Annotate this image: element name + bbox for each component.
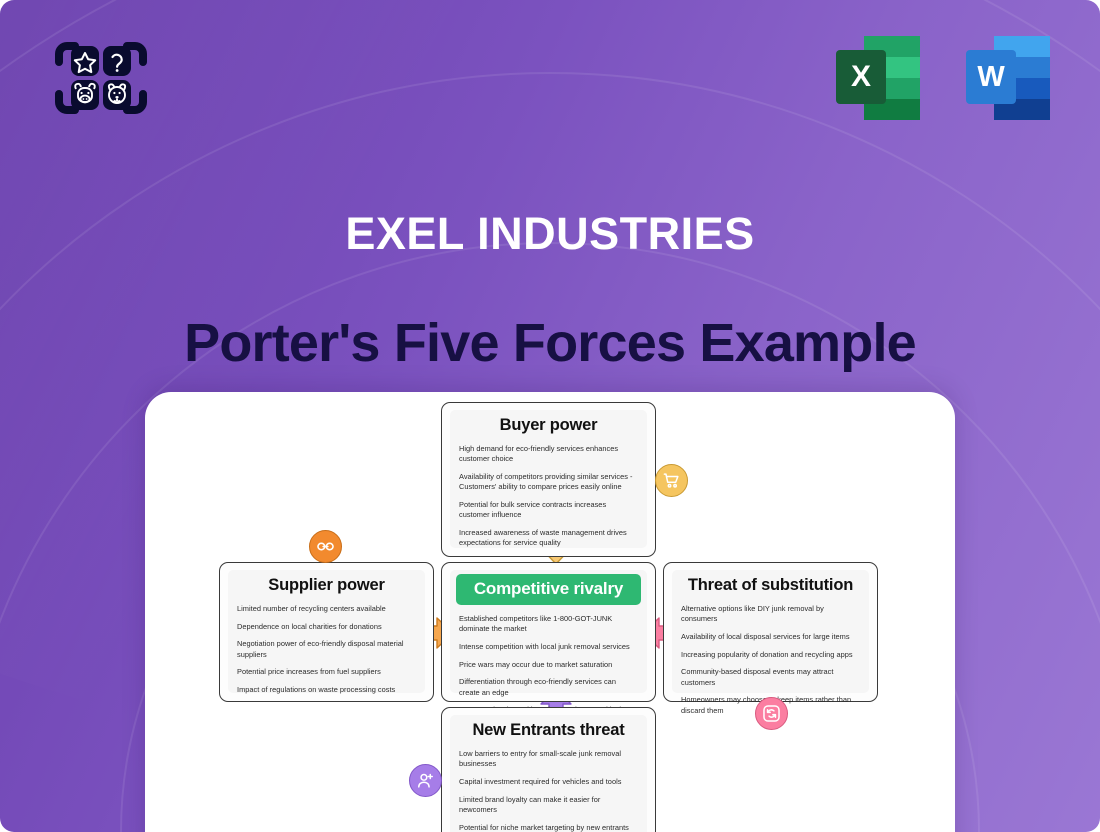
list-item: Intense competition with local junk remo… (459, 642, 638, 652)
list-item: Availability of competitors providing si… (459, 472, 638, 492)
page-subtitle: Porter's Five Forces Example (0, 312, 1100, 374)
list-item: Alternative options like DIY junk remova… (681, 604, 860, 624)
office-app-icons: X W (830, 28, 1058, 126)
force-title-new-entrants-threat: New Entrants threat (459, 721, 638, 740)
force-title-buyer-power: Buyer power (459, 416, 638, 435)
force-bullets-supplier-power: Limited number of recycling centers avai… (237, 604, 416, 695)
poster-canvas: X W EXEL INDUSTRIES Porter's Five Forces… (0, 0, 1100, 832)
svg-text:W: W (977, 61, 1005, 93)
list-item: Potential for bulk service contracts inc… (459, 500, 638, 520)
list-item: Differentiation through eco-friendly ser… (459, 677, 638, 697)
list-item: Price wars may occur due to market satur… (459, 660, 638, 670)
porters-five-forces-diagram: Buyer power High demand for eco-friendly… (145, 392, 955, 832)
add-user-icon[interactable] (409, 764, 442, 797)
brand-qr-animals-logo (45, 32, 157, 124)
list-item: Potential price increases from fuel supp… (237, 667, 416, 677)
word-icon: W (960, 28, 1058, 126)
list-item: Negotiation power of eco-friendly dispos… (237, 639, 416, 659)
list-item: Limited brand loyalty can make it easier… (459, 795, 638, 815)
list-item: Capital investment required for vehicles… (459, 777, 638, 787)
force-box-threat-of-substitution[interactable]: Threat of substitution Alternative optio… (663, 562, 878, 702)
diagram-card: Buyer power High demand for eco-friendly… (145, 392, 955, 832)
force-box-supplier-power[interactable]: Supplier power Limited number of recycli… (219, 562, 434, 702)
list-item: Limited number of recycling centers avai… (237, 604, 416, 614)
force-box-new-entrants-threat[interactable]: New Entrants threat Low barriers to entr… (441, 707, 656, 832)
force-title-supplier-power: Supplier power (237, 576, 416, 595)
list-item: Dependence on local charities for donati… (237, 622, 416, 632)
list-item: Low barriers to entry for small-scale ju… (459, 749, 638, 769)
list-item: Increasing popularity of donation and re… (681, 650, 860, 660)
force-bullets-buyer-power: High demand for eco-friendly services en… (459, 444, 638, 548)
refresh-sync-icon[interactable] (755, 697, 788, 730)
force-box-competitive-rivalry[interactable]: Competitive rivalry Established competit… (441, 562, 656, 702)
list-item: High demand for eco-friendly services en… (459, 444, 638, 464)
page-title: EXEL INDUSTRIES (0, 208, 1100, 260)
list-item: Availability of local disposal services … (681, 632, 860, 642)
list-item: Established competitors like 1-800-GOT-J… (459, 614, 638, 634)
force-bullets-new-entrants-threat: Low barriers to entry for small-scale ju… (459, 749, 638, 832)
force-box-buyer-power[interactable]: Buyer power High demand for eco-friendly… (441, 402, 656, 557)
list-item: Potential for niche market targeting by … (459, 823, 638, 832)
list-item: Increased awareness of waste management … (459, 528, 638, 548)
excel-icon: X (830, 28, 928, 126)
dog-tile (103, 80, 131, 110)
list-item: Impact of regulations on waste processin… (237, 685, 416, 695)
shopping-cart-icon[interactable] (655, 464, 688, 497)
force-title-threat-of-substitution: Threat of substitution (681, 576, 860, 595)
svg-text:X: X (851, 60, 871, 93)
force-title-competitive-rivalry: Competitive rivalry (456, 574, 641, 605)
chain-link-icon[interactable] (309, 530, 342, 563)
list-item: Community-based disposal events may attr… (681, 667, 860, 687)
